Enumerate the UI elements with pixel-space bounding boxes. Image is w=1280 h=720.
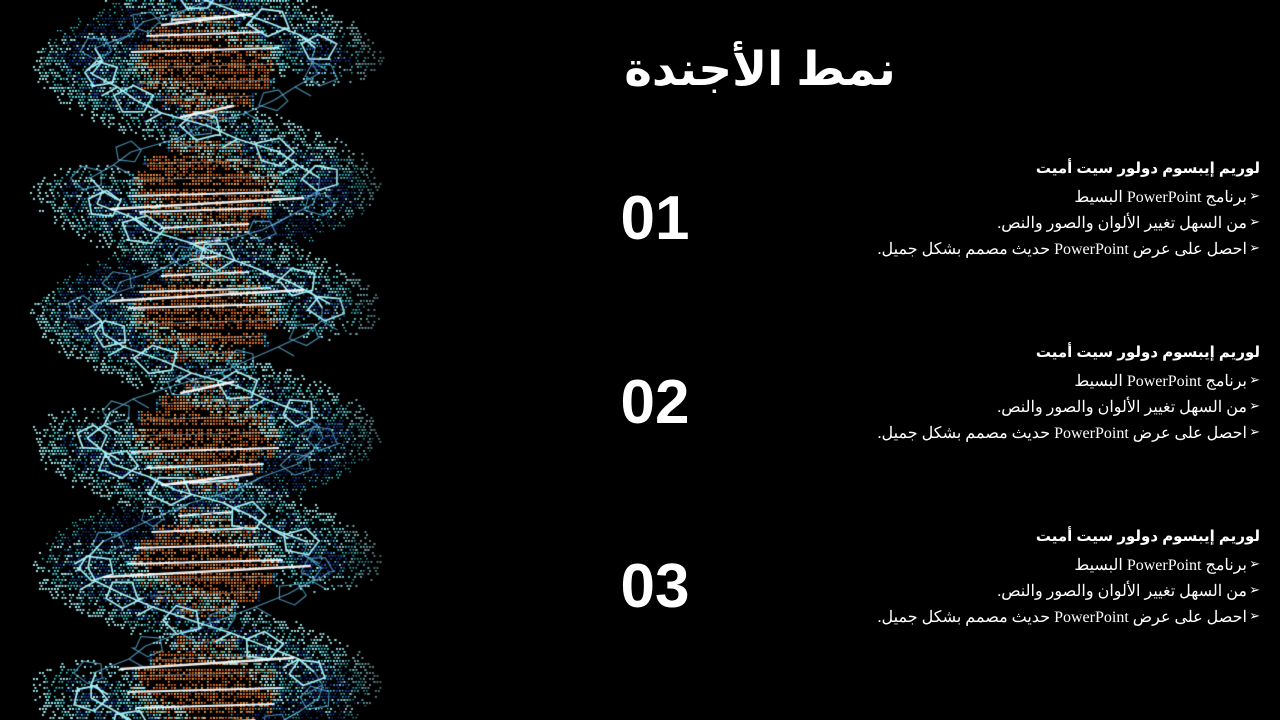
agenda-text-02: لوريم إيبسوم دولور سيت أميت ➢ برنامج Pow… — [820, 344, 1260, 446]
dna-artwork-panel — [0, 0, 420, 720]
agenda-number-02: 02 — [595, 372, 715, 434]
bullet-text: احصل على عرض PowerPoint حديث مصمم بشكل ج… — [878, 425, 1247, 442]
bullet-text: من السهل تغيير الألوان والصور والنص. — [997, 399, 1247, 416]
bullet-arrow-icon: ➢ — [1249, 237, 1260, 261]
agenda-heading-01: لوريم إيبسوم دولور سيت أميت — [820, 160, 1260, 179]
agenda-slide: نمط الأجندة 01 لوريم إيبسوم دولور سيت أم… — [0, 0, 1280, 720]
list-item: ➢ من السهل تغيير الألوان والصور والنص. — [820, 579, 1260, 605]
bullet-arrow-icon: ➢ — [1249, 553, 1260, 577]
bullet-text: برنامج PowerPoint البسيط — [1074, 557, 1247, 574]
list-item: ➢ برنامج PowerPoint البسيط — [820, 185, 1260, 211]
bullet-text: من السهل تغيير الألوان والصور والنص. — [997, 215, 1247, 232]
bullet-text: برنامج PowerPoint البسيط — [1074, 373, 1247, 390]
agenda-heading-02: لوريم إيبسوم دولور سيت أميت — [820, 344, 1260, 363]
list-item: ➢ احصل على عرض PowerPoint حديث مصمم بشكل… — [820, 237, 1260, 263]
agenda-item-03: 03 لوريم إيبسوم دولور سيت أميت ➢ برنامج … — [420, 528, 1280, 698]
agenda-number-01: 01 — [595, 188, 715, 250]
list-item: ➢ من السهل تغيير الألوان والصور والنص. — [820, 211, 1260, 237]
bullet-arrow-icon: ➢ — [1249, 211, 1260, 235]
bullet-arrow-icon: ➢ — [1249, 605, 1260, 629]
page-title: نمط الأجندة — [420, 44, 1100, 95]
agenda-heading-03: لوريم إيبسوم دولور سيت أميت — [820, 528, 1260, 547]
list-item: ➢ من السهل تغيير الألوان والصور والنص. — [820, 395, 1260, 421]
bullet-arrow-icon: ➢ — [1249, 421, 1260, 445]
list-item: ➢ احصل على عرض PowerPoint حديث مصمم بشكل… — [820, 605, 1260, 631]
dna-double-helix-illustration — [0, 0, 420, 720]
agenda-bullet-list-03: ➢ برنامج PowerPoint البسيط ➢ من السهل تغ… — [820, 553, 1260, 631]
agenda-item-02: 02 لوريم إيبسوم دولور سيت أميت ➢ برنامج … — [420, 344, 1280, 514]
agenda-bullet-list-01: ➢ برنامج PowerPoint البسيط ➢ من السهل تغ… — [820, 185, 1260, 263]
list-item: ➢ برنامج PowerPoint البسيط — [820, 369, 1260, 395]
list-item: ➢ برنامج PowerPoint البسيط — [820, 553, 1260, 579]
bullet-arrow-icon: ➢ — [1249, 369, 1260, 393]
agenda-number-03: 03 — [595, 556, 715, 618]
bullet-text: احصل على عرض PowerPoint حديث مصمم بشكل ج… — [878, 241, 1247, 258]
bullet-arrow-icon: ➢ — [1249, 185, 1260, 209]
agenda-bullet-list-02: ➢ برنامج PowerPoint البسيط ➢ من السهل تغ… — [820, 369, 1260, 447]
slide-content: نمط الأجندة 01 لوريم إيبسوم دولور سيت أم… — [420, 0, 1280, 720]
bullet-arrow-icon: ➢ — [1249, 579, 1260, 603]
agenda-text-03: لوريم إيبسوم دولور سيت أميت ➢ برنامج Pow… — [820, 528, 1260, 630]
agenda-item-01: 01 لوريم إيبسوم دولور سيت أميت ➢ برنامج … — [420, 160, 1280, 330]
bullet-text: برنامج PowerPoint البسيط — [1074, 189, 1247, 206]
bullet-arrow-icon: ➢ — [1249, 395, 1260, 419]
bullet-text: احصل على عرض PowerPoint حديث مصمم بشكل ج… — [878, 609, 1247, 626]
list-item: ➢ احصل على عرض PowerPoint حديث مصمم بشكل… — [820, 421, 1260, 447]
agenda-text-01: لوريم إيبسوم دولور سيت أميت ➢ برنامج Pow… — [820, 160, 1260, 262]
bullet-text: من السهل تغيير الألوان والصور والنص. — [997, 583, 1247, 600]
